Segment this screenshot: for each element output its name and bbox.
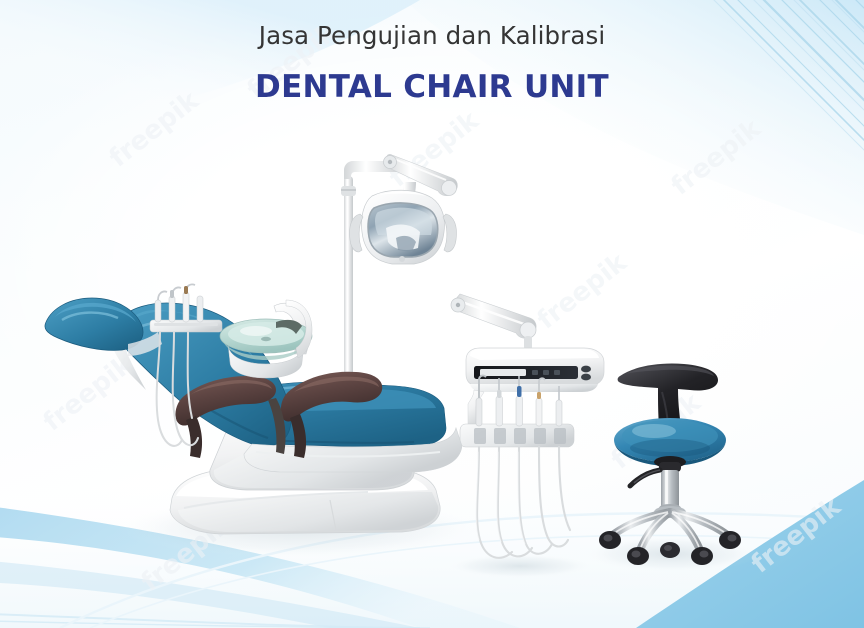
stool-cylinder: [630, 456, 686, 512]
light-head: [349, 190, 456, 264]
chair-legrest: [386, 390, 464, 436]
svg-text:freepik: freepik: [136, 509, 237, 597]
svg-text:freepik: freepik: [316, 387, 417, 475]
stool-backrest: [618, 364, 718, 437]
chair-base: [170, 468, 440, 534]
instrument-holder: [460, 390, 574, 447]
stool-seat: [614, 418, 726, 466]
poster-title: DENTAL CHAIR UNIT: [0, 50, 864, 104]
delivery-floor-shadow: [448, 554, 592, 578]
chair-seat: [228, 382, 446, 448]
chair-floor-shadow: [115, 498, 485, 558]
delivery-unit: [350, 294, 604, 558]
poster-canvas: freepik freepik freepik freepik freepik …: [0, 0, 864, 628]
light-upper-arm: [384, 154, 458, 195]
stool-casters: [599, 531, 741, 565]
svg-text:freepik: freepik: [606, 387, 707, 475]
spittoon-cuspidor: [220, 300, 312, 378]
poster-subtitle: Jasa Pengujian dan Kalibrasi: [0, 23, 864, 50]
delivery-console: [466, 348, 604, 392]
svg-text:freepik: freepik: [666, 113, 767, 201]
patient-chair: [45, 284, 464, 534]
chair-column: [210, 410, 414, 490]
svg-text:freepik: freepik: [746, 491, 847, 579]
svg-text:freepik: freepik: [384, 105, 485, 193]
instrument-hoses: [477, 447, 570, 558]
chair-backrest: [110, 303, 291, 446]
svg-text:freepik: freepik: [38, 349, 139, 437]
stool-base: [599, 506, 741, 565]
title-block: Jasa Pengujian dan Kalibrasi DENTAL CHAI…: [0, 0, 864, 104]
svg-text:freepik: freepik: [532, 247, 633, 335]
chair-armrests: [175, 372, 382, 458]
delivery-arm: [350, 294, 536, 478]
assistant-instruments: [150, 284, 222, 446]
chair-headrest: [45, 298, 162, 356]
chair-side-shell: [244, 428, 462, 472]
stool-floor-shadow: [584, 536, 760, 572]
instrument-handpieces: [476, 376, 562, 426]
dentist-stool: [599, 364, 741, 566]
instrument-hoses-highlight: [476, 452, 525, 544]
operating-light: [341, 154, 457, 476]
